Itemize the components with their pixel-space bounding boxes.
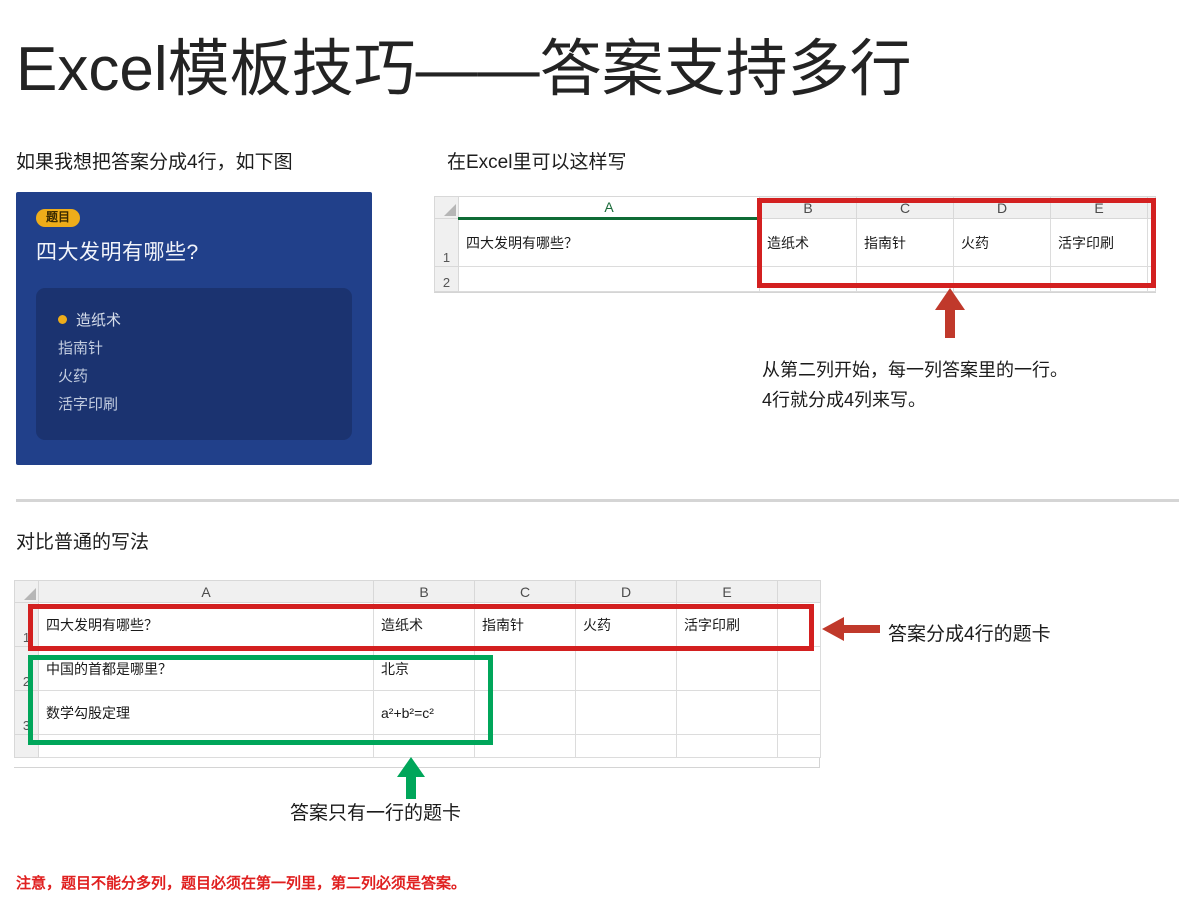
answer-item-1: 造纸术 [58, 307, 330, 335]
cell-c2[interactable] [475, 647, 576, 691]
column-header-b[interactable]: B [374, 581, 475, 603]
cell-f1[interactable] [778, 603, 821, 647]
cell-a2[interactable]: 中国的首都是哪里？ [39, 647, 374, 691]
column-header-c[interactable]: C [857, 197, 954, 219]
row-header-4[interactable] [15, 735, 39, 758]
cell-f2[interactable] [778, 647, 821, 691]
cell-a1[interactable]: 四大发明有哪些？ [39, 603, 374, 647]
excel-sheet-comparison[interactable]: A B C D E 1 四大发明有哪些？ 造纸术 指南针 火药 活字印刷 2 中… [14, 580, 820, 768]
column-header-e[interactable]: E [677, 581, 778, 603]
cell-d2[interactable] [954, 267, 1051, 292]
column-header-f[interactable] [1148, 197, 1156, 219]
row-header-1[interactable]: 1 [15, 603, 39, 647]
cell-c3[interactable] [475, 691, 576, 735]
cell-d2[interactable] [576, 647, 677, 691]
cell-e2[interactable] [677, 647, 778, 691]
table-row [15, 735, 821, 758]
cell-a3[interactable]: 数学勾股定理 [39, 691, 374, 735]
column-header-e[interactable]: E [1051, 197, 1148, 219]
cell-d1[interactable]: 火药 [954, 219, 1051, 267]
caption-left: 如果我想把答案分成4行，如下图 [16, 147, 293, 174]
cell-d4[interactable] [576, 735, 677, 758]
answer-label-1: 造纸术 [76, 312, 121, 329]
cell-f2[interactable] [1148, 267, 1156, 292]
answer-item-2: 指南针 [58, 335, 330, 363]
cell-c1[interactable]: 指南针 [475, 603, 576, 647]
column-header-f[interactable] [778, 581, 821, 603]
column-header-d[interactable]: D [954, 197, 1051, 219]
cell-f4[interactable] [778, 735, 821, 758]
bullet-dot-icon [58, 315, 67, 324]
arrow-up-green-icon [396, 757, 426, 804]
note-red-arrow: 答案分成4行的题卡 [888, 619, 1051, 646]
table-row: 2 中国的首都是哪里？ 北京 [15, 647, 821, 691]
answer-panel: 造纸术 指南针 火药 活字印刷 [36, 288, 352, 440]
row-header-2[interactable]: 2 [15, 647, 39, 691]
cell-d3[interactable] [576, 691, 677, 735]
caption-compare: 对比普通的写法 [16, 527, 149, 554]
page-title: Excel模板技巧——答案支持多行 [16, 18, 912, 108]
cell-b2[interactable]: 北京 [374, 647, 475, 691]
column-header-d[interactable]: D [576, 581, 677, 603]
cell-b4[interactable] [374, 735, 475, 758]
row-header-1[interactable]: 1 [435, 219, 459, 267]
table-row: 1 四大发明有哪些？ 造纸术 指南针 火药 活字印刷 [15, 603, 821, 647]
note-green: 答案只有一行的题卡 [290, 798, 461, 825]
note-top: 从第二列开始，每一列答案里的一行。 4行就分成4列来写。 [762, 355, 1068, 415]
cell-a2[interactable] [459, 267, 760, 292]
table-row: 3 数学勾股定理 a²+b²=c² [15, 691, 821, 735]
note-top-line1: 从第二列开始，每一列答案里的一行。 [762, 355, 1068, 385]
cell-f3[interactable] [778, 691, 821, 735]
cell-e2[interactable] [1051, 267, 1148, 292]
column-header-a[interactable]: A [39, 581, 374, 603]
column-header-b[interactable]: B [760, 197, 857, 219]
cell-c4[interactable] [475, 735, 576, 758]
cell-e1[interactable]: 活字印刷 [677, 603, 778, 647]
cell-b1[interactable]: 造纸术 [374, 603, 475, 647]
question-text: 四大发明有哪些? [36, 236, 352, 266]
question-card: 题目 四大发明有哪些? 造纸术 指南针 火药 活字印刷 [16, 192, 372, 465]
cell-c1[interactable]: 指南针 [857, 219, 954, 267]
arrow-left-red-icon [822, 616, 880, 647]
column-header-row: A B C D E [15, 581, 821, 603]
column-header-row: A B C D E [435, 197, 1156, 219]
cell-b2[interactable] [760, 267, 857, 292]
answer-item-4: 活字印刷 [58, 391, 330, 419]
arrow-up-red-icon [932, 288, 968, 343]
warning-text: 注意，题目不能分多列，题目必须在第一列里，第二列必须是答案。 [16, 872, 466, 893]
cell-d1[interactable]: 火药 [576, 603, 677, 647]
table-row: 1 四大发明有哪些？ 造纸术 指南针 火药 活字印刷 [435, 219, 1156, 267]
note-top-line2: 4行就分成4列来写。 [762, 385, 1068, 415]
cell-f1[interactable] [1148, 219, 1156, 267]
table-row: 2 [435, 267, 1156, 292]
column-header-c[interactable]: C [475, 581, 576, 603]
column-header-a[interactable]: A [459, 197, 760, 219]
cell-a4[interactable] [39, 735, 374, 758]
row-header-2[interactable]: 2 [435, 267, 459, 292]
excel-sheet-multirow[interactable]: A B C D E 1 四大发明有哪些？ 造纸术 指南针 火药 活字印刷 2 [434, 196, 1156, 293]
row-header-3[interactable]: 3 [15, 691, 39, 735]
cell-e4[interactable] [677, 735, 778, 758]
caption-right: 在Excel里可以这样写 [447, 147, 626, 174]
question-badge: 题目 [36, 209, 80, 227]
cell-b1[interactable]: 造纸术 [760, 219, 857, 267]
section-divider [16, 499, 1179, 502]
answer-item-3: 火药 [58, 363, 330, 391]
cell-b3[interactable]: a²+b²=c² [374, 691, 475, 735]
cell-a1[interactable]: 四大发明有哪些？ [459, 219, 760, 267]
cell-e1[interactable]: 活字印刷 [1051, 219, 1148, 267]
cell-e3[interactable] [677, 691, 778, 735]
select-all-corner[interactable] [15, 581, 39, 603]
select-all-corner[interactable] [435, 197, 459, 219]
